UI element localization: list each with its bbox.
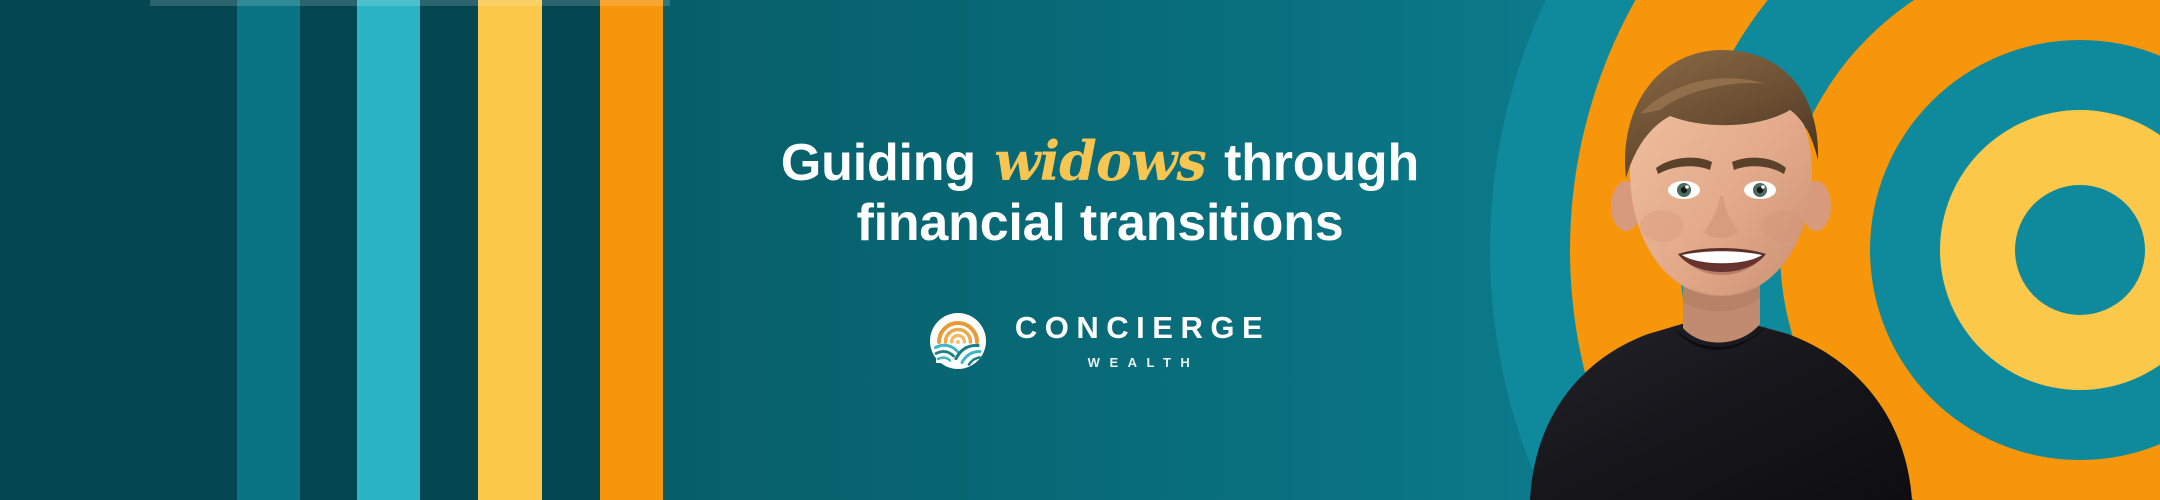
advisor-portrait	[1520, 10, 1940, 500]
headline-line-2: financial transitions	[781, 194, 1419, 252]
headline-accent-word: widows	[990, 129, 1210, 193]
brand-subtitle: WEALTH	[1079, 356, 1200, 369]
marketing-banner: Guiding widows through financial transit…	[0, 0, 2160, 500]
headline-line1-after: through	[1210, 134, 1419, 192]
stripe-dark-teal-3	[420, 0, 478, 500]
logo-lockup[interactable]: CONCIERGE WEALTH	[930, 312, 1270, 369]
stripe-gold	[478, 0, 542, 500]
headline-line-1: Guiding widows through	[781, 131, 1419, 192]
stripe-orange	[600, 0, 663, 500]
headline: Guiding widows through financial transit…	[781, 131, 1419, 252]
concierge-wealth-sun-waves-mark	[930, 313, 986, 369]
headline-line1-before: Guiding	[781, 134, 990, 192]
stripe-dark-teal-1	[0, 0, 237, 500]
stripe-band	[0, 0, 665, 500]
stripe-cyan	[357, 0, 420, 500]
stripe-dark-teal-4	[542, 0, 600, 500]
stripe-teal	[237, 0, 300, 500]
top-sheen-band	[150, 0, 670, 6]
banner-content: Guiding widows through financial transit…	[660, 0, 1540, 500]
brand-name: CONCIERGE	[1008, 312, 1270, 343]
logo-wordmark: CONCIERGE WEALTH	[1008, 312, 1270, 369]
stripe-dark-teal-2	[300, 0, 357, 500]
ring-teal-core	[2015, 185, 2145, 315]
